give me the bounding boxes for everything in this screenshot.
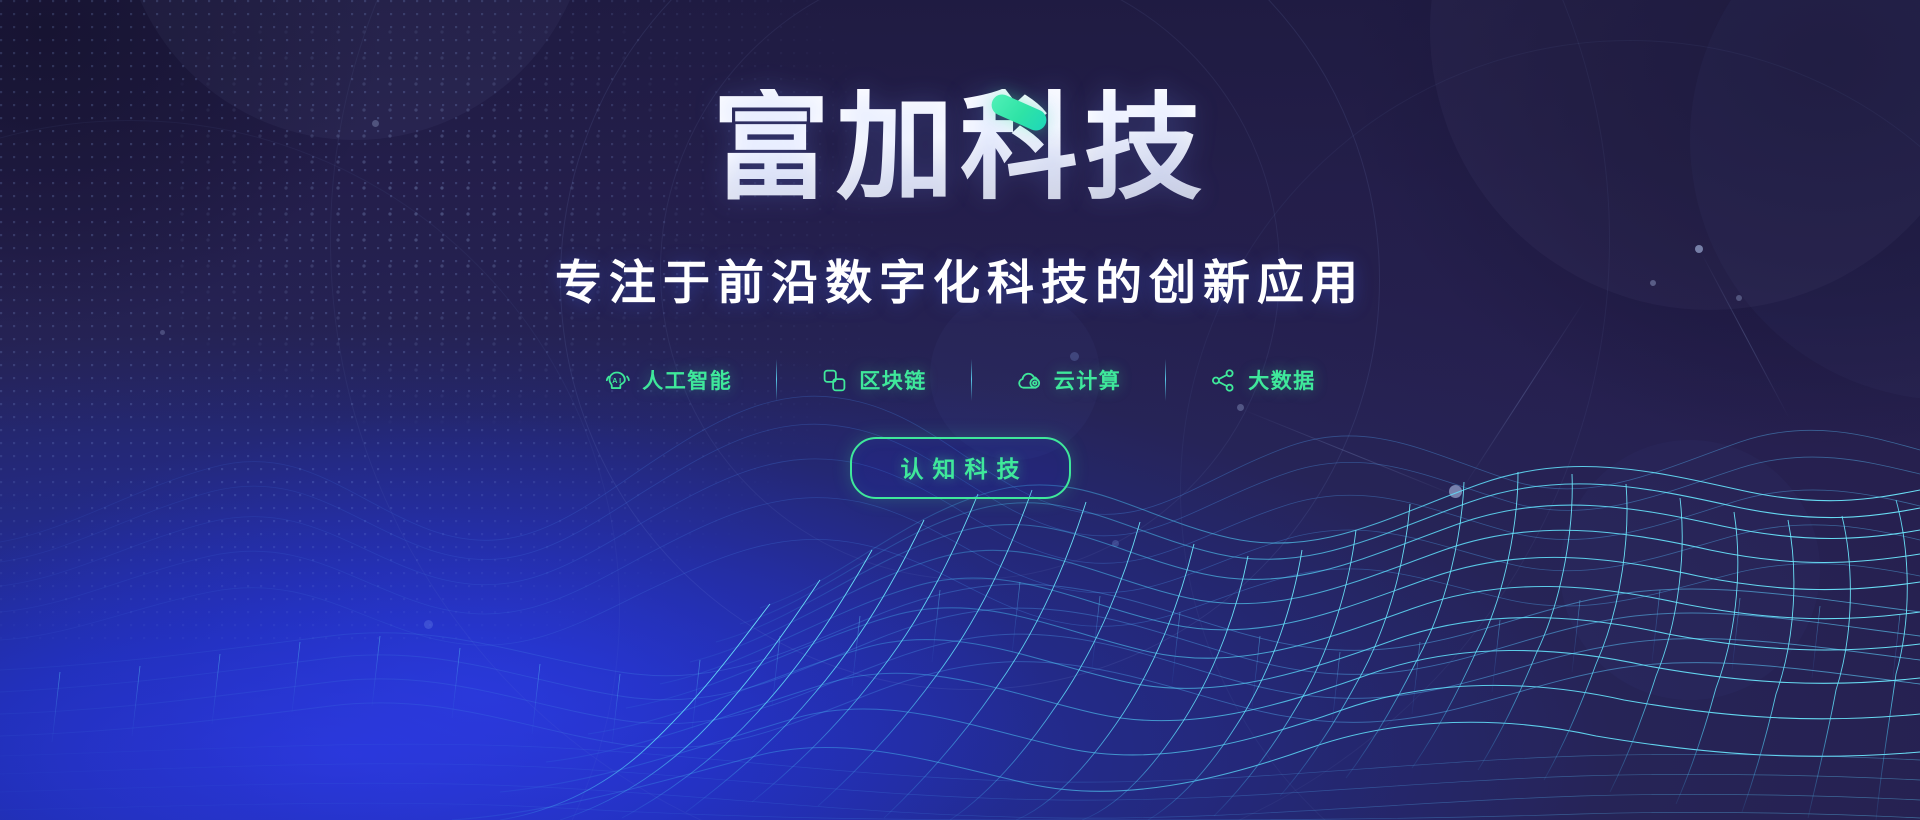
hero-banner: 富加科技 专注于前沿数字化科技的创新应用 AI 人工智能 [0,0,1920,820]
feature-tag-label: 云计算 [1054,365,1122,395]
share-nodes-icon [1210,367,1237,394]
feature-tag-ai[interactable]: AI 人工智能 [560,365,776,395]
blockchain-blocks-icon [821,367,848,394]
feature-tag-label: 人工智能 [642,365,732,395]
feature-tag-list: AI 人工智能 区块链 [560,359,1360,401]
banner-content: 富加科技 专注于前沿数字化科技的创新应用 AI 人工智能 [0,0,1920,820]
cta-container: 认知科技 [850,437,1071,499]
svg-text:AI: AI [612,375,623,384]
feature-tag-blockchain[interactable]: 区块链 [777,365,971,395]
feature-tag-cloud[interactable]: 云计算 [972,365,1166,395]
cloud-gear-icon [1016,367,1043,394]
feature-tag-bigdata[interactable]: 大数据 [1166,365,1360,395]
feature-tag-label: 区块链 [859,365,927,395]
cta-button[interactable]: 认知科技 [850,437,1071,499]
brand-logo: 富加科技 [712,78,1208,218]
ai-head-icon: AI [604,367,631,394]
feature-tag-label: 大数据 [1248,365,1316,395]
banner-subtitle: 专注于前沿数字化科技的创新应用 [555,244,1365,313]
brand-logo-text: 富加科技 [712,89,1208,207]
